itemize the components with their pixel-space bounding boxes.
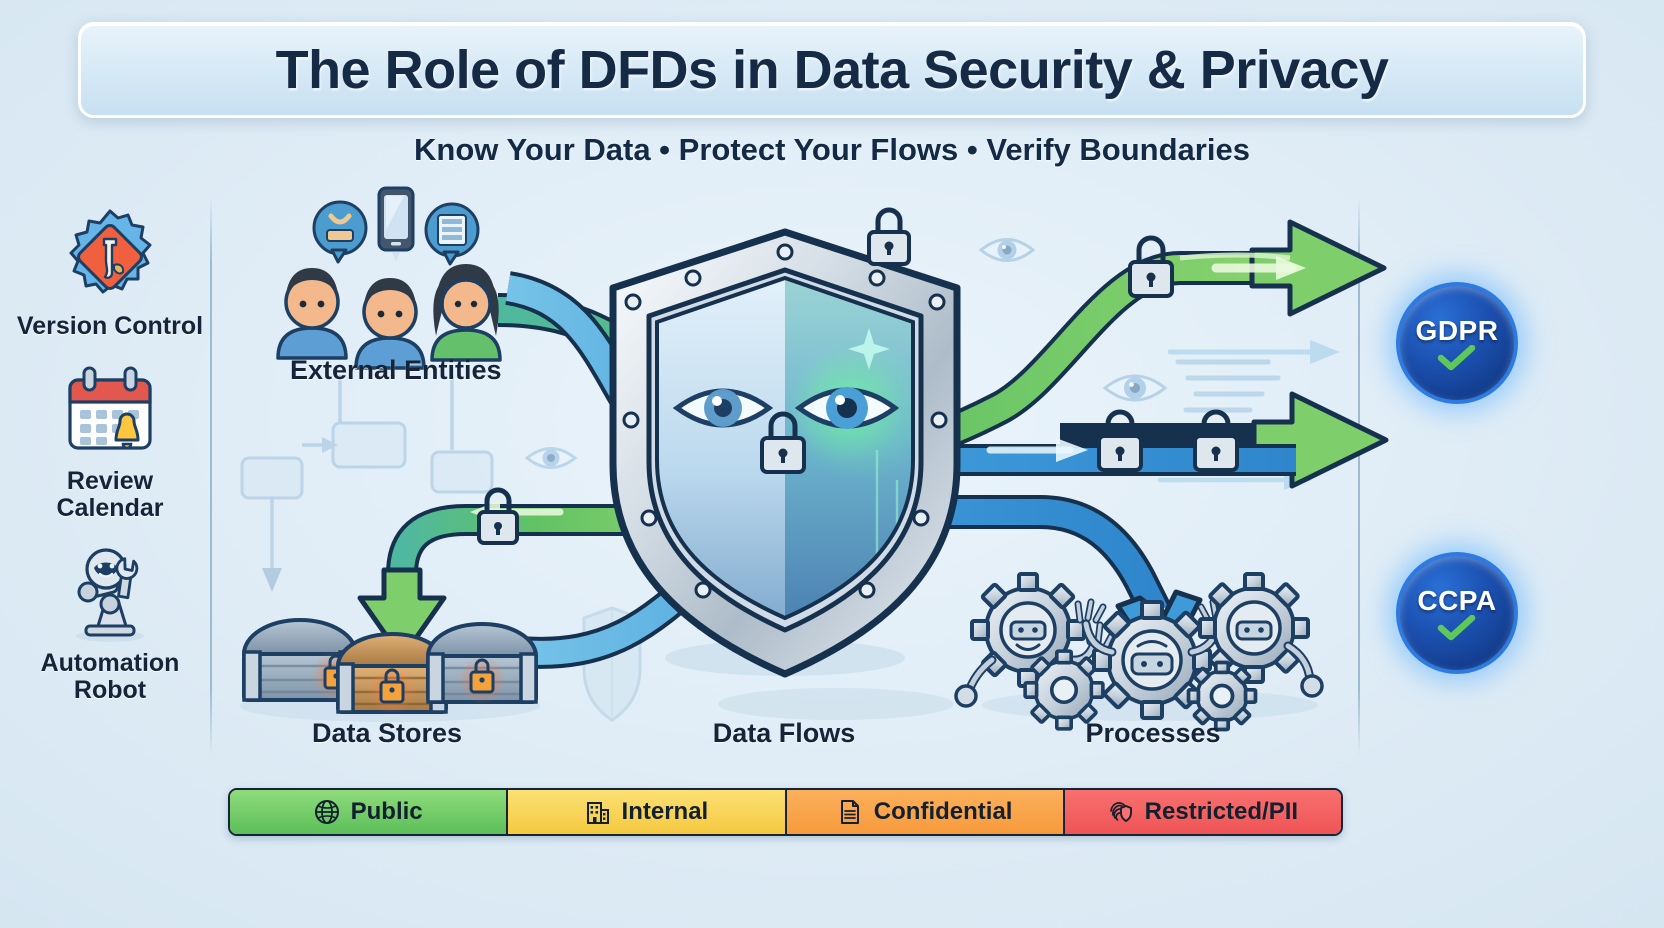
speech-bubble-user-icon [314, 202, 366, 262]
caption-data-flows: Data Flows [684, 718, 884, 749]
data-stores-group [240, 620, 540, 722]
avatar [432, 264, 500, 360]
caption-data-stores: Data Stores [287, 718, 487, 749]
dfd-illustration [0, 160, 1664, 770]
page-title: The Role of DFDs in Data Security & Priv… [276, 39, 1389, 101]
ghost-dfd-boxes [242, 375, 492, 592]
title-banner: The Role of DFDs in Data Security & Priv… [78, 22, 1586, 118]
building-icon [585, 799, 611, 825]
legend-label: Internal [622, 798, 709, 826]
legend-label: Confidential [874, 798, 1013, 826]
classification-legend: Public Internal [228, 788, 1343, 836]
legend-label: Restricted/PII [1145, 798, 1298, 826]
shadow-ellipse [718, 688, 954, 720]
external-entities-group [278, 188, 500, 368]
legend-label: Public [351, 798, 423, 826]
legend-item-restricted-pii[interactable]: Restricted/PII [1065, 790, 1341, 834]
infographic-canvas: The Role of DFDs in Data Security & Priv… [0, 0, 1664, 928]
globe-icon [314, 799, 340, 825]
caption-processes: Processes [1053, 718, 1253, 749]
legend-item-public[interactable]: Public [230, 790, 508, 834]
legend-item-internal[interactable]: Internal [508, 790, 786, 834]
avatar [278, 268, 346, 358]
legend-item-confidential[interactable]: Confidential [787, 790, 1065, 834]
document-icon [837, 799, 863, 825]
caption-external-entities: External Entities [290, 355, 490, 386]
mobile-phone-icon [379, 188, 413, 262]
fingerprint-shield-icon [1108, 799, 1134, 825]
speech-bubble-list-icon [426, 204, 478, 264]
shield-eye-right [791, 352, 903, 464]
shield-lock-icon [869, 210, 909, 264]
